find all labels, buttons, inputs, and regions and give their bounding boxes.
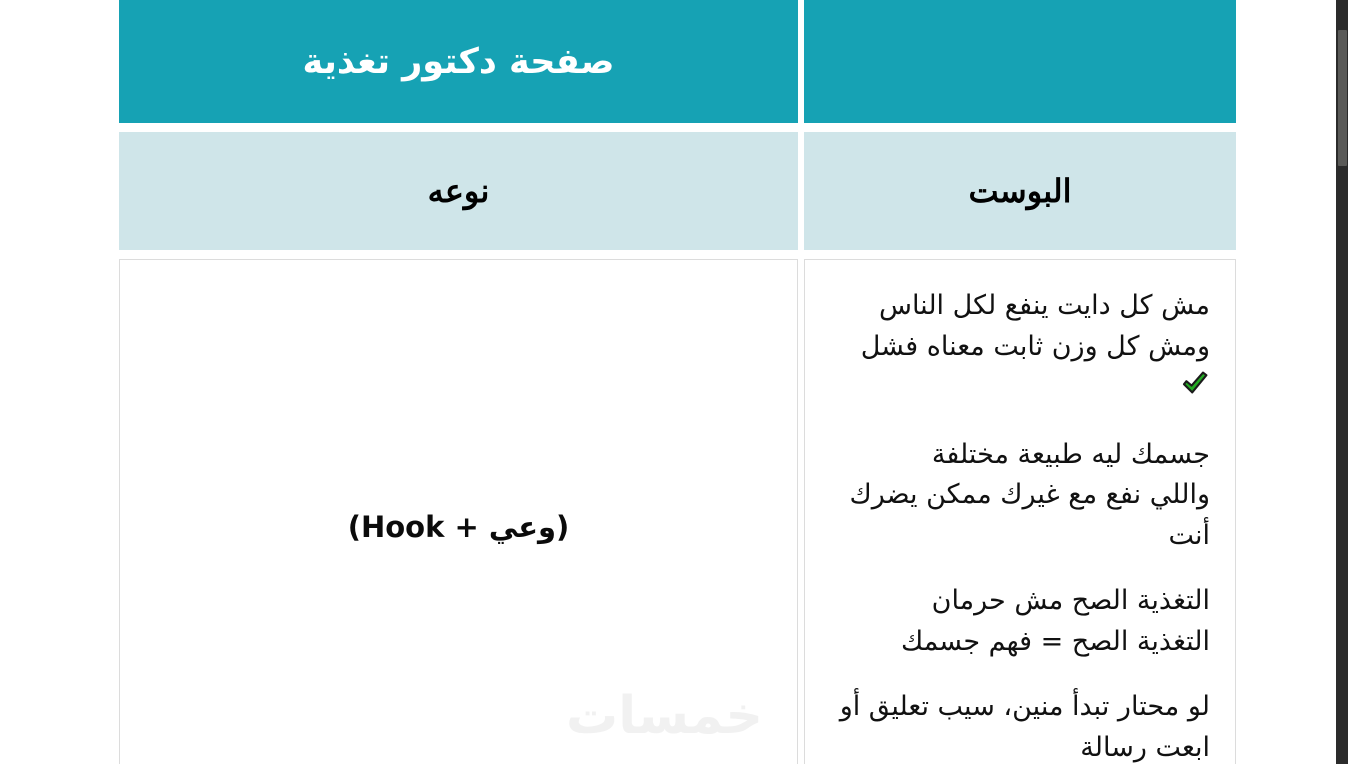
table-banner-row: صفحة دكتور تغذية: [119, 0, 1236, 123]
green-check-icon: [1180, 369, 1210, 410]
post-paragraph: التغذية الصح مش حرمان التغذية الصح = فهم…: [825, 581, 1210, 662]
table-header-row: البوست نوعه: [119, 132, 1236, 250]
table-row: مش كل دايت ينفع لكل الناس ومش كل وزن ثاب…: [119, 259, 1236, 764]
post-paragraph-text: مش كل دايت ينفع لكل الناس ومش كل وزن ثاب…: [861, 290, 1210, 362]
cell-post-type: (وعي + Hook): [119, 259, 798, 764]
post-paragraph: جسمك ليه طبيعة مختلفة واللي نفع مع غيرك …: [825, 435, 1210, 557]
post-paragraph: لو محتار تبدأ منين، سيب تعليق أو ابعت رس…: [825, 687, 1210, 764]
content-plan-table: صفحة دكتور تغذية البوست نوعه مش كل دايت …: [113, 0, 1242, 764]
scrollbar-thumb[interactable]: [1338, 30, 1347, 166]
cell-post-content: مش كل دايت ينفع لكل الناس ومش كل وزن ثاب…: [804, 259, 1236, 764]
banner-cell-empty: [804, 0, 1236, 123]
column-header-type: نوعه: [119, 132, 798, 250]
post-paragraph: مش كل دايت ينفع لكل الناس ومش كل وزن ثاب…: [825, 286, 1210, 410]
document-page: صفحة دكتور تغذية البوست نوعه مش كل دايت …: [0, 0, 1348, 764]
column-header-post: البوست: [804, 132, 1236, 250]
page-title: صفحة دكتور تغذية: [119, 0, 798, 123]
vertical-scrollbar[interactable]: [1336, 0, 1348, 764]
